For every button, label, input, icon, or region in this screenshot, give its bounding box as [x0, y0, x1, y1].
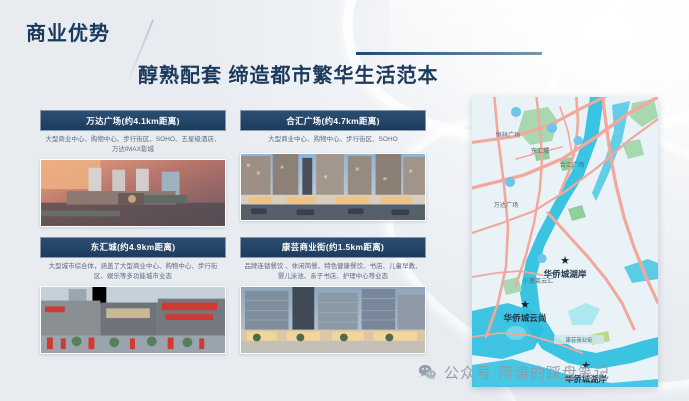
commercial-cards-grid: 万达广场(约4.1km距离) 大型商业中心、购物中心、步行街区、SOHO、五星级… [40, 110, 440, 364]
svg-text:康芸商业街: 康芸商业街 [566, 336, 594, 344]
hehui-plaza-night-photo [240, 153, 426, 221]
card-title: 万达广场(约4.1km距离) [40, 110, 226, 131]
kangyun-commercial-street-photo [240, 286, 426, 354]
watermark: 公众号·阿涛的踩盘笔记 [418, 362, 610, 383]
card-wanda-plaza[interactable]: 万达广场(约4.1km距离) 大型商业中心、购物中心、步行街区、SOHO、五星级… [40, 110, 226, 227]
watermark-text: 公众号·阿涛的踩盘笔记 [444, 362, 610, 383]
wechat-icon [418, 363, 437, 382]
card-kangyun-street[interactable]: 康芸商业街(约1.5km距离) 品牌连锁餐饮 、休闲简餐、特色健康餐饮、书店、儿… [240, 237, 426, 354]
map-poi-label: 恒祥广场 [496, 131, 521, 139]
card-description: 大型商业中心、购物中心、步行街区、SOHO [240, 131, 426, 153]
card-description: 大型商业中心、购物中心、步行街区、SOHO、五星级酒店、万达IMAX影城 [40, 131, 226, 159]
location-map[interactable]: 恒祥广场 东汇城 合汇广场 万达广场 小蓬莱云汇 康芸商业街 ★ 华侨城湖岸 ★… [472, 97, 658, 387]
card-title: 康芸商业街(约1.5km距离) [240, 237, 426, 258]
card-row-bottom: 东汇城(约4.9km距离) 大型城市综合体，涵盖了大型商业中心、购物中心、步行街… [40, 237, 440, 354]
slide-header: 商业优势 醇熟配套 缔造都市繁华生活范本 [26, 24, 546, 94]
card-description: 品牌连锁餐饮 、休闲简餐、特色健康餐饮、书店、儿童早教、婴儿泳池、亲子书店、护理… [240, 258, 426, 286]
map-graphic: 恒祥广场 东汇城 合汇广场 万达广场 小蓬莱云汇 康芸商业街 ★ 华侨城湖岸 ★… [472, 97, 658, 387]
page-subtitle: 醇熟配套 缔造都市繁华生活范本 [138, 59, 439, 88]
page-title: 商业优势 [26, 24, 546, 44]
map-poi-label: 合汇广场 [560, 161, 585, 169]
slide-root: 商业优势 醇熟配套 缔造都市繁华生活范本 万达广场(约4.1km距离) 大型商业… [0, 0, 689, 401]
card-donghui-city[interactable]: 东汇城(约4.9km距离) 大型城市综合体，涵盖了大型商业中心、购物中心、步行街… [40, 237, 226, 354]
card-hehui-plaza[interactable]: 合汇广场(约4.7km距离) 大型商业中心、购物中心、步行街区、SOHO [240, 110, 426, 227]
wanda-plaza-aerial-photo [40, 159, 226, 227]
map-poi-label: 小蓬莱云汇 [523, 277, 554, 285]
card-description: 大型城市综合体，涵盖了大型商业中心、购物中心、步行街区、娱乐等多功能城市业态 [40, 258, 226, 286]
card-row-top: 万达广场(约4.1km距离) 大型商业中心、购物中心、步行街区、SOHO、五星级… [40, 110, 440, 227]
title-rule-decoration [356, 52, 542, 55]
map-poi-label: 万达广场 [494, 201, 519, 209]
card-title: 合汇广场(约4.7km距离) [240, 110, 426, 131]
map-poi-kangyun: 康芸商业街 [554, 335, 604, 344]
card-title: 东汇城(约4.9km距离) [40, 237, 226, 258]
map-poi-label: 东汇城 [531, 147, 550, 155]
donghui-city-street-photo [40, 286, 226, 354]
